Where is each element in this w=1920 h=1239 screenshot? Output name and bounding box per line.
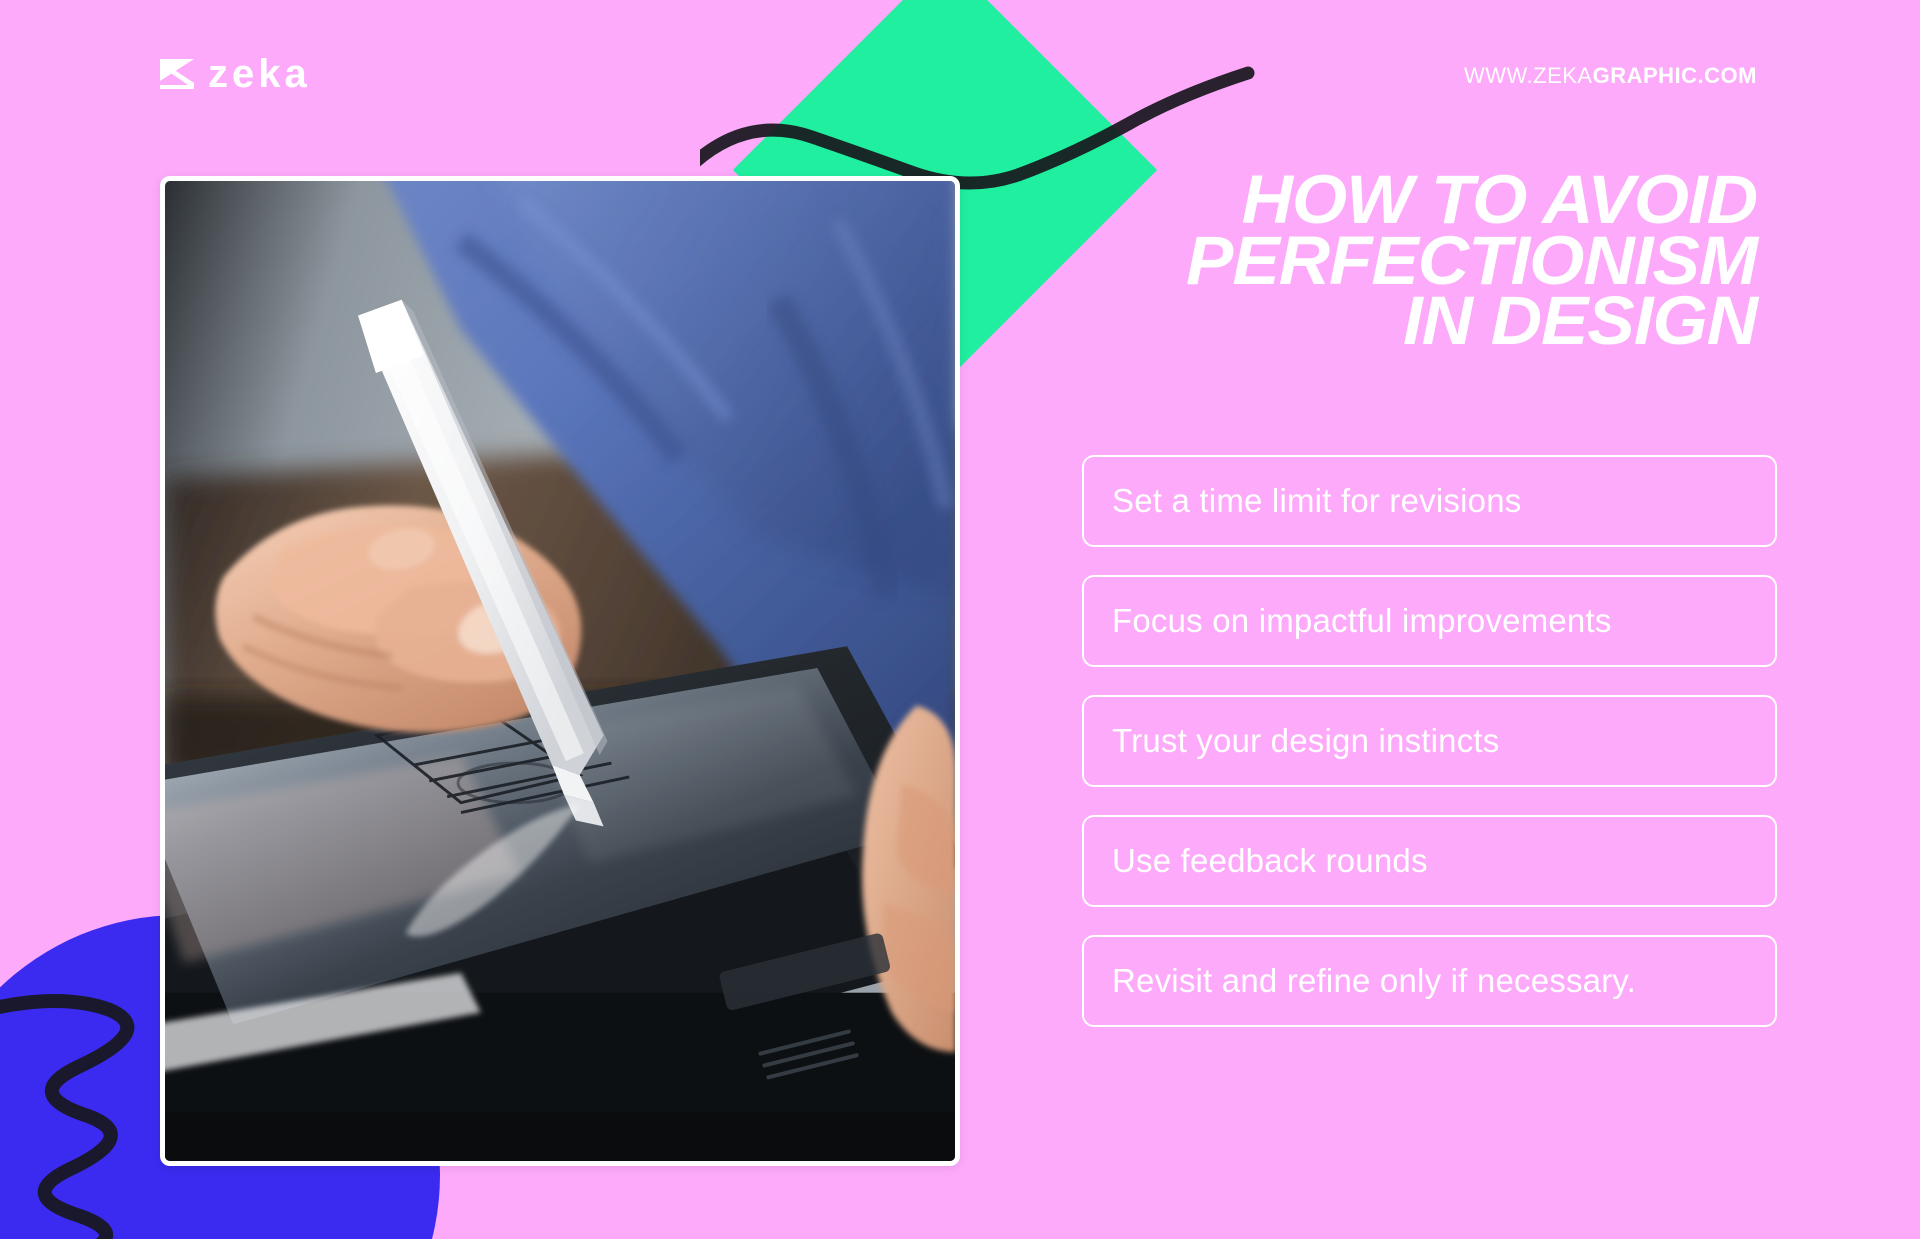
tip-label: Trust your design instincts <box>1112 722 1500 760</box>
zeka-slash-square-icon <box>160 59 194 89</box>
brand-logo-text: zeka <box>208 54 311 94</box>
website-url-bold: GRAPHIC.COM <box>1593 63 1757 88</box>
tip-label: Use feedback rounds <box>1112 842 1428 880</box>
list-item[interactable]: Set a time limit for revisions <box>1082 455 1777 547</box>
page-title-line-3: IN DESIGN <box>727 291 1757 352</box>
tip-label: Set a time limit for revisions <box>1112 482 1521 520</box>
poster-canvas: zeka WWW.ZEKAGRAPHIC.COM HOW TO AVOID PE… <box>0 0 1920 1239</box>
list-item[interactable]: Trust your design instincts <box>1082 695 1777 787</box>
brand-logo[interactable]: zeka <box>160 54 311 94</box>
tip-label: Focus on impactful improvements <box>1112 602 1612 640</box>
website-url-light: WWW.ZEKA <box>1464 63 1593 88</box>
list-item[interactable]: Use feedback rounds <box>1082 815 1777 907</box>
list-item[interactable]: Focus on impactful improvements <box>1082 575 1777 667</box>
list-item[interactable]: Revisit and refine only if necessary. <box>1082 935 1777 1027</box>
tip-label: Revisit and refine only if necessary. <box>1112 962 1636 1000</box>
tips-list: Set a time limit for revisions Focus on … <box>1082 455 1777 1027</box>
website-url[interactable]: WWW.ZEKAGRAPHIC.COM <box>1464 63 1757 89</box>
page-title: HOW TO AVOID PERFECTIONISM IN DESIGN <box>727 170 1757 352</box>
